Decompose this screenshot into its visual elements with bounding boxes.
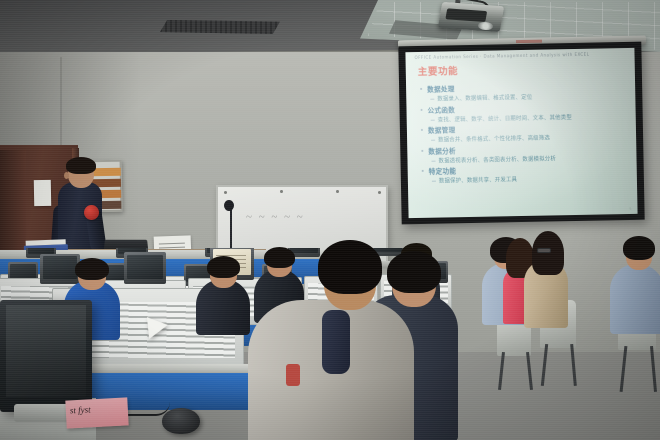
presenter-hair — [66, 157, 96, 174]
slide-bullet-item: 数据管理 数据合并、条件格式、个性化排序、高级筛选 — [420, 121, 629, 144]
slide-header: OFFICE Automation Series · Data Manageme… — [415, 50, 638, 61]
computer-mouse — [162, 408, 200, 434]
projector-icon — [438, 2, 504, 32]
paper-airplane-icon — [147, 315, 169, 339]
projection-screen: OFFICE Automation Series · Data Manageme… — [398, 42, 644, 225]
attendee-hair — [387, 251, 441, 293]
sticky-note-text: st fyst — [65, 397, 128, 420]
slide-bullet-item: 数据处理 数据录入、数据编辑、格式设置、定位 — [419, 80, 628, 103]
glasses-icon — [537, 248, 551, 253]
sticky-note: st fyst — [65, 397, 128, 428]
attendee-hair — [75, 258, 109, 280]
slide-bullet-item: 数据分析 数据透视表分析、各类图表分析、数据模拟分析 — [420, 141, 629, 164]
attendee-hair — [318, 240, 382, 294]
attendee-hair — [623, 236, 655, 260]
ceiling-vent-icon — [160, 20, 280, 34]
slide-bullet-item: 公式函数 查找、逻辑、数学、统计、日期时间、文本、其他类型 — [419, 100, 628, 123]
monitor — [124, 252, 166, 284]
monitor — [40, 254, 80, 284]
attendee-collar — [322, 310, 350, 374]
microphone-icon — [224, 200, 234, 211]
attendee-hair — [264, 247, 295, 268]
whiteboard-screw — [224, 191, 227, 194]
whiteboard-screw — [378, 191, 381, 194]
attendee-hair-long — [532, 231, 564, 275]
attendee-torso — [610, 264, 660, 334]
whiteboard-writing: ~ ~ ~ ~ ~ — [246, 211, 366, 233]
whiteboard-screw — [336, 190, 339, 193]
presenter-held-object — [84, 205, 99, 220]
door-notice-paper — [34, 180, 51, 206]
presenter-ear — [64, 172, 69, 179]
foreground-monitor — [0, 300, 92, 412]
slide-bullet-list: 数据处理 数据录入、数据编辑、格式设置、定位 公式函数 查找、逻辑、数学、统计、… — [419, 80, 630, 185]
lanyard-badge — [286, 364, 300, 386]
slide-page-number: 5 — [629, 207, 631, 211]
slide-bullet-item: 特定功能 数据保护、数据共享、开发工具 — [421, 162, 630, 185]
attendee-hair — [207, 256, 240, 278]
projection-surface: OFFICE Automation Series · Data Manageme… — [405, 48, 637, 218]
classroom-photo-scene: ~ ~ ~ ~ ~ OFFICE Automation Series · Dat… — [0, 0, 660, 440]
presentation-slide: OFFICE Automation Series · Data Manageme… — [405, 48, 637, 218]
whiteboard-screw — [280, 190, 283, 193]
slide-title: 主要功能 — [418, 60, 628, 78]
